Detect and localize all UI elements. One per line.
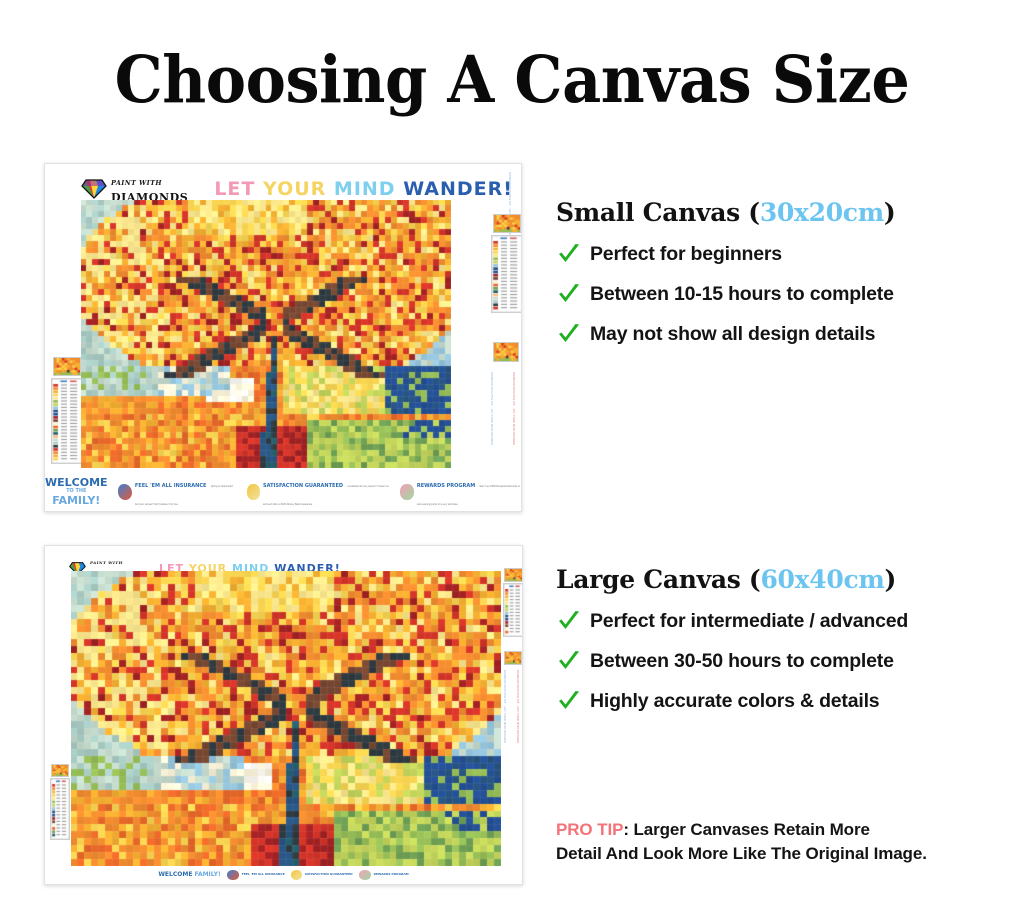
small-heading-suffix: ) [884, 198, 896, 227]
list-item-label: Highly accurate colors & details [590, 690, 879, 713]
dmc-chart-canvas [51, 378, 83, 464]
badge-welcome-sub: FAMILY! [52, 494, 100, 507]
pro-tip-note: PRO TIP: Larger Canvases Retain More Det… [556, 818, 927, 866]
gift-icon [400, 484, 414, 500]
page-title: Choosing A Canvas Size [36, 44, 988, 116]
small-heading-prefix: Small Canvas ( [556, 198, 760, 227]
instructions-strip: DIAMOND PAINTING KIT - LET YOUR MIND WAN… [489, 372, 493, 462]
list-item: Highly accurate colors & details [556, 688, 908, 714]
dmc-color-chart-right [491, 235, 522, 313]
badge-insurance: FEEL 'EM ALL INSURANCE Spill your diamon… [118, 474, 238, 510]
gift-icon-large [359, 870, 371, 880]
checkmark-icon [556, 648, 590, 674]
list-item: May not show all design details [556, 321, 895, 347]
side-strip-text-top-right: DIAMOND PAINTING KIT - LET YOUR MIND WAN… [507, 172, 511, 212]
large-heading-dimension: 60x40cm [760, 565, 884, 594]
badge-satisfaction-title-large: SATISFACTION GUARANTEED [305, 873, 353, 876]
dmc-chart-canvas-left-large [50, 778, 70, 840]
list-item-label: May not show all design details [590, 323, 875, 346]
artwork-thumbnail-right-large [504, 568, 523, 582]
tagline-word-1: LET [214, 178, 255, 200]
small-heading-dimension: 30x20cm [760, 198, 884, 227]
badge-welcome: WELCOME TO THE FAMILY! [45, 477, 108, 507]
small-canvas-heading: Small Canvas (30x20cm) [556, 198, 895, 227]
pro-tip-label: PRO TIP [556, 820, 623, 839]
large-canvas-text-block: Large Canvas (60x40cm) Perfect for inter… [556, 565, 908, 728]
list-item: Between 10-15 hours to complete [556, 281, 895, 307]
badge-rewards: REWARDS PROGRAM Earn free PWD Rewards Di… [400, 474, 521, 510]
diamond-gem-icon [81, 179, 107, 199]
tagline-word-4: WANDER! [403, 178, 513, 200]
dmc-color-chart-left [51, 378, 83, 464]
checkmark-icon [556, 608, 590, 634]
footer-badges-large: WELCOME FAMILY! FEEL 'EM ALL INSURANCE S… [45, 870, 522, 880]
badge-rewards-title-large: REWARDS PROGRAM [374, 873, 409, 876]
badge-rewards-large: REWARDS PROGRAM [359, 870, 409, 880]
paint-splash-icon-large [227, 870, 239, 880]
kit-contents-illustration [493, 342, 519, 362]
pro-tip-line-1: : Larger Canvases Retain More [623, 820, 870, 839]
checkmark-icon [556, 688, 590, 714]
kit-photo-thumbnail [493, 342, 519, 362]
dmc-chart-canvas-right [491, 235, 522, 313]
tagline-word-3: MIND [334, 178, 396, 200]
small-canvas-bullet-list: Perfect for beginners Between 10-15 hour… [556, 241, 895, 347]
canvas-size-infographic: Choosing A Canvas Size PAINT WITH [0, 0, 1024, 924]
legend-thumbnail-left [53, 357, 81, 376]
legend-thumbnail-right-large [504, 568, 523, 582]
list-item: Perfect for beginners [556, 241, 895, 267]
dmc-color-chart-left-large [50, 778, 70, 840]
badge-welcome-large: WELCOME FAMILY! [158, 872, 220, 879]
small-canvas-preview-panel: PAINT WITH DIAMONDS LET YOUR MIND WANDER… [44, 163, 522, 512]
badge-welcome-sub-large: FAMILY! [195, 871, 221, 878]
kit-photo-thumbnail-large [504, 651, 522, 665]
thumbs-up-icon [247, 484, 260, 500]
instructions-strip-red: DIAMOND PAINTING KIT - LET YOUR MIND WAN… [511, 372, 515, 462]
badge-rewards-title: REWARDS PROGRAM [417, 483, 475, 489]
large-canvas-heading: Large Canvas (60x40cm) [556, 565, 908, 594]
checkmark-icon [556, 241, 590, 267]
badge-satisfaction-title: SATISFACTION GUARANTEED [263, 483, 343, 489]
dmc-color-chart-right-large [503, 583, 523, 637]
list-item: Perfect for intermediate / advanced [556, 608, 908, 634]
thumbs-up-icon-large [291, 870, 302, 880]
legend-thumbnail-left-large [51, 764, 69, 777]
badge-welcome-title: WELCOME [45, 476, 108, 489]
instructions-strip-large: DIAMOND PAINTING KIT - LET YOUR MIND WAN… [502, 670, 506, 732]
legend-thumbnail-right [493, 214, 521, 233]
paint-splash-icon [118, 484, 132, 500]
large-canvas-bullet-list: Perfect for intermediate / advanced Betw… [556, 608, 908, 714]
badge-satisfaction-large: SATISFACTION GUARANTEED [291, 870, 353, 880]
badge-insurance-large: FEEL 'EM ALL INSURANCE [227, 870, 285, 880]
large-canvas-preview-panel: PAINT WITH DIAMONDS LET YOUR MIND WANDER… [44, 545, 523, 885]
canvas-artwork-small [81, 200, 451, 468]
badge-insurance-title-large: FEEL 'EM ALL INSURANCE [242, 873, 285, 876]
checkmark-icon [556, 321, 590, 347]
canvas-artwork-large [71, 571, 501, 866]
list-item-label: Perfect for beginners [590, 243, 782, 266]
large-heading-suffix: ) [885, 565, 897, 594]
list-item: Between 30-50 hours to complete [556, 648, 908, 674]
badge-satisfaction: SATISFACTION GUARANTEED Unsatisfied for … [247, 474, 389, 510]
kit-contents-illustration-large [504, 651, 522, 665]
footer-badges: WELCOME TO THE FAMILY! FEEL 'EM ALL INSU… [45, 474, 521, 510]
artwork-thumbnail [53, 357, 81, 376]
tagline-word-2: YOUR [263, 178, 326, 200]
dmc-chart-canvas-right-large [503, 583, 523, 637]
brand-tagline-small: PAINT WITH [111, 179, 162, 187]
badge-insurance-title: FEEL 'EM ALL INSURANCE [135, 483, 207, 489]
canvas-tagline: LET YOUR MIND WANDER! [214, 178, 513, 200]
pixelated-autumn-tree-mosaic [81, 200, 451, 468]
small-canvas-text-block: Small Canvas (30x20cm) Perfect for begin… [556, 198, 895, 361]
artwork-thumbnail-large [51, 764, 69, 777]
badge-welcome-title-large: WELCOME [158, 871, 192, 878]
list-item-label: Perfect for intermediate / advanced [590, 610, 908, 633]
instructions-strip-red-large: DIAMOND PAINTING KIT - LET YOUR MIND WAN… [515, 670, 519, 732]
pro-tip-line-2: Detail And Look More Like The Original I… [556, 844, 927, 863]
brand-tagline-small-large: PAINT WITH [90, 560, 123, 565]
artwork-thumbnail-right [493, 214, 521, 233]
list-item-label: Between 30-50 hours to complete [590, 650, 894, 673]
large-heading-prefix: Large Canvas ( [556, 565, 760, 594]
pixelated-autumn-tree-mosaic-large [71, 571, 501, 866]
list-item-label: Between 10-15 hours to complete [590, 283, 894, 306]
checkmark-icon [556, 281, 590, 307]
